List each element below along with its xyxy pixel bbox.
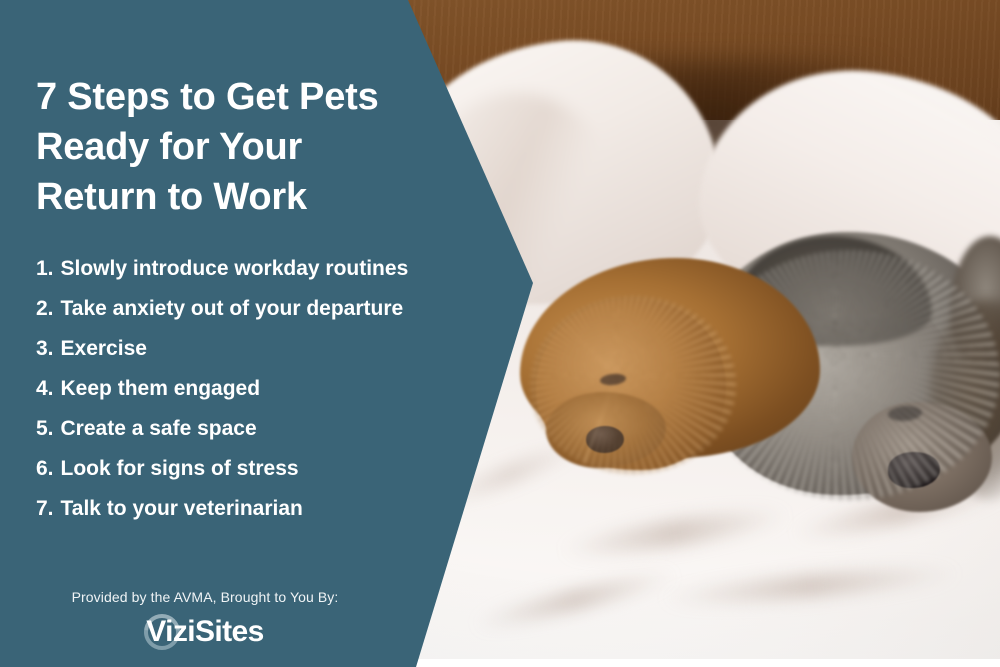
step-text: Slowly introduce workday routines [61,256,409,282]
step-text: Keep them engaged [61,376,261,402]
step-number: 2. [36,296,54,322]
step-text: Talk to your veterinarian [61,496,303,522]
list-item: 5. Create a safe space [36,416,436,442]
footer: Provided by the AVMA, Brought to You By:… [0,588,410,650]
list-item: 1. Slowly introduce workday routines [36,256,436,282]
list-item: 7. Talk to your veterinarian [36,496,436,522]
list-item: 2. Take anxiety out of your departure [36,296,436,322]
list-item: 3. Exercise [36,336,436,362]
list-item: 6. Look for signs of stress [36,456,436,482]
step-number: 7. [36,496,54,522]
step-number: 6. [36,456,54,482]
step-number: 1. [36,256,54,282]
dog-tan-fur-texture [530,296,736,474]
attribution-text: Provided by the AVMA, Brought to You By: [0,588,410,606]
steps-list: 1. Slowly introduce workday routines 2. … [36,256,436,536]
step-text: Look for signs of stress [61,456,299,482]
infographic-poster: 7 Steps to Get Pets Ready for Your Retur… [0,0,1000,667]
title-line-2: Ready for Your [36,126,302,168]
step-text: Create a safe space [61,416,257,442]
title-line-1: 7 Steps to Get Pets [36,76,379,118]
logo-wordmark: ViziSites [146,615,263,648]
page-title: 7 Steps to Get Pets Ready for Your Retur… [36,72,426,222]
step-number: 4. [36,376,54,402]
list-item: 4. Keep them engaged [36,376,436,402]
step-number: 5. [36,416,54,442]
step-text: Exercise [61,336,147,362]
step-number: 3. [36,336,54,362]
panel-content: 7 Steps to Get Pets Ready for Your Retur… [0,0,420,667]
vizisites-logo: ViziSites [146,614,263,650]
step-text: Take anxiety out of your departure [61,296,404,322]
title-line-3: Return to Work [36,176,307,218]
